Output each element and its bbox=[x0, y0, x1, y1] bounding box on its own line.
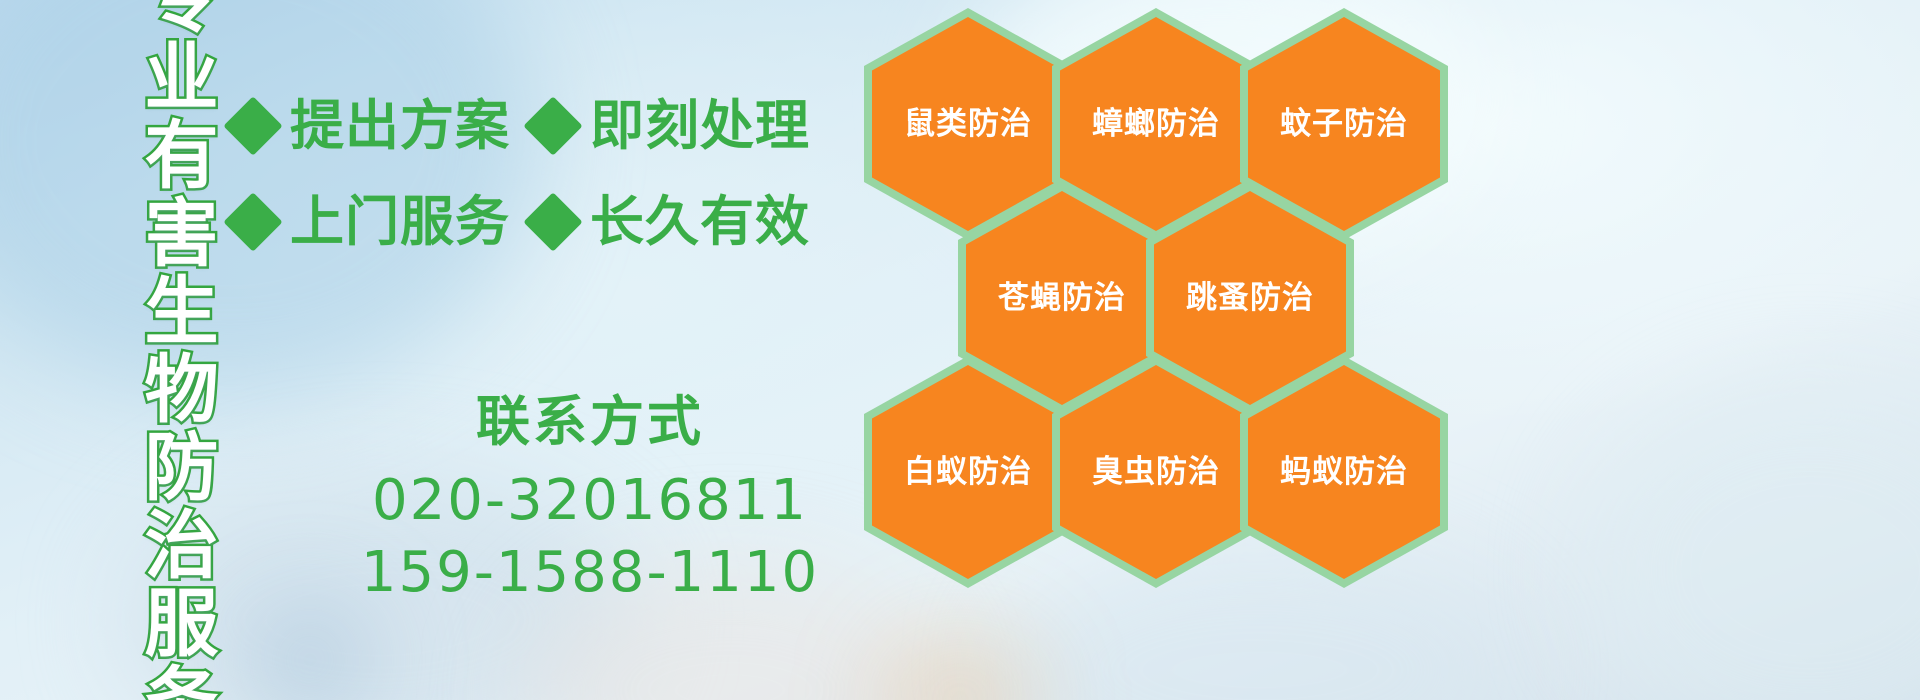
feature-list: 提出方案 即刻处理 上门服务 长久有效 bbox=[232, 78, 862, 270]
hex-label: 白蚁防治 bbox=[904, 457, 1032, 488]
diamond-icon bbox=[523, 96, 582, 155]
feature-item-onsite: 上门服务 bbox=[232, 195, 510, 249]
phone-number-mobile[interactable]: 159-1588-1110 bbox=[300, 537, 880, 609]
diamond-icon bbox=[223, 192, 282, 251]
phone-number-landline[interactable]: 020-32016811 bbox=[300, 465, 880, 537]
hex-label: 蚂蚁防治 bbox=[1280, 457, 1408, 488]
hex-label: 鼠类防治 bbox=[904, 109, 1032, 140]
hex-label: 苍蝇防治 bbox=[998, 283, 1126, 314]
contact-block: 联系方式 020-32016811 159-1588-1110 bbox=[300, 392, 880, 609]
feature-item-longlasting: 长久有效 bbox=[532, 195, 810, 249]
hex-label: 跳蚤防治 bbox=[1186, 283, 1314, 314]
contact-title: 联系方式 bbox=[300, 392, 880, 451]
hex-label: 蚊子防治 bbox=[1280, 109, 1408, 140]
feature-item-proposal: 提出方案 bbox=[232, 99, 510, 153]
feature-item-immediate: 即刻处理 bbox=[532, 99, 810, 153]
promo-banner: 专业有害生物防治服务 提出方案 即刻处理 上门服务 长久有效 联系方式 bbox=[0, 0, 1920, 700]
hex-label: 臭虫防治 bbox=[1092, 457, 1220, 488]
feature-row: 上门服务 长久有效 bbox=[232, 174, 862, 270]
hex-inner: 臭虫防治 bbox=[1060, 365, 1252, 579]
background-blur-blob bbox=[1580, 380, 1920, 700]
diamond-icon bbox=[523, 192, 582, 251]
feature-label: 长久有效 bbox=[590, 195, 810, 249]
hex-inner: 白蚁防治 bbox=[872, 365, 1064, 579]
service-hexagon-grid: 鼠类防治 蟑螂防治 蚊子防治 苍蝇防治 跳蚤防治 白蚁防治 bbox=[856, 0, 1456, 700]
hex-label: 蟑螂防治 bbox=[1092, 109, 1220, 140]
vertical-headline: 专业有害生物防治服务 bbox=[108, 8, 212, 692]
feature-label: 即刻处理 bbox=[590, 99, 810, 153]
feature-label: 提出方案 bbox=[290, 99, 510, 153]
feature-label: 上门服务 bbox=[290, 195, 510, 249]
background-blur-blob bbox=[250, 600, 370, 700]
diamond-icon bbox=[223, 96, 282, 155]
hex-inner: 蚂蚁防治 bbox=[1248, 365, 1440, 579]
feature-row: 提出方案 即刻处理 bbox=[232, 78, 862, 174]
